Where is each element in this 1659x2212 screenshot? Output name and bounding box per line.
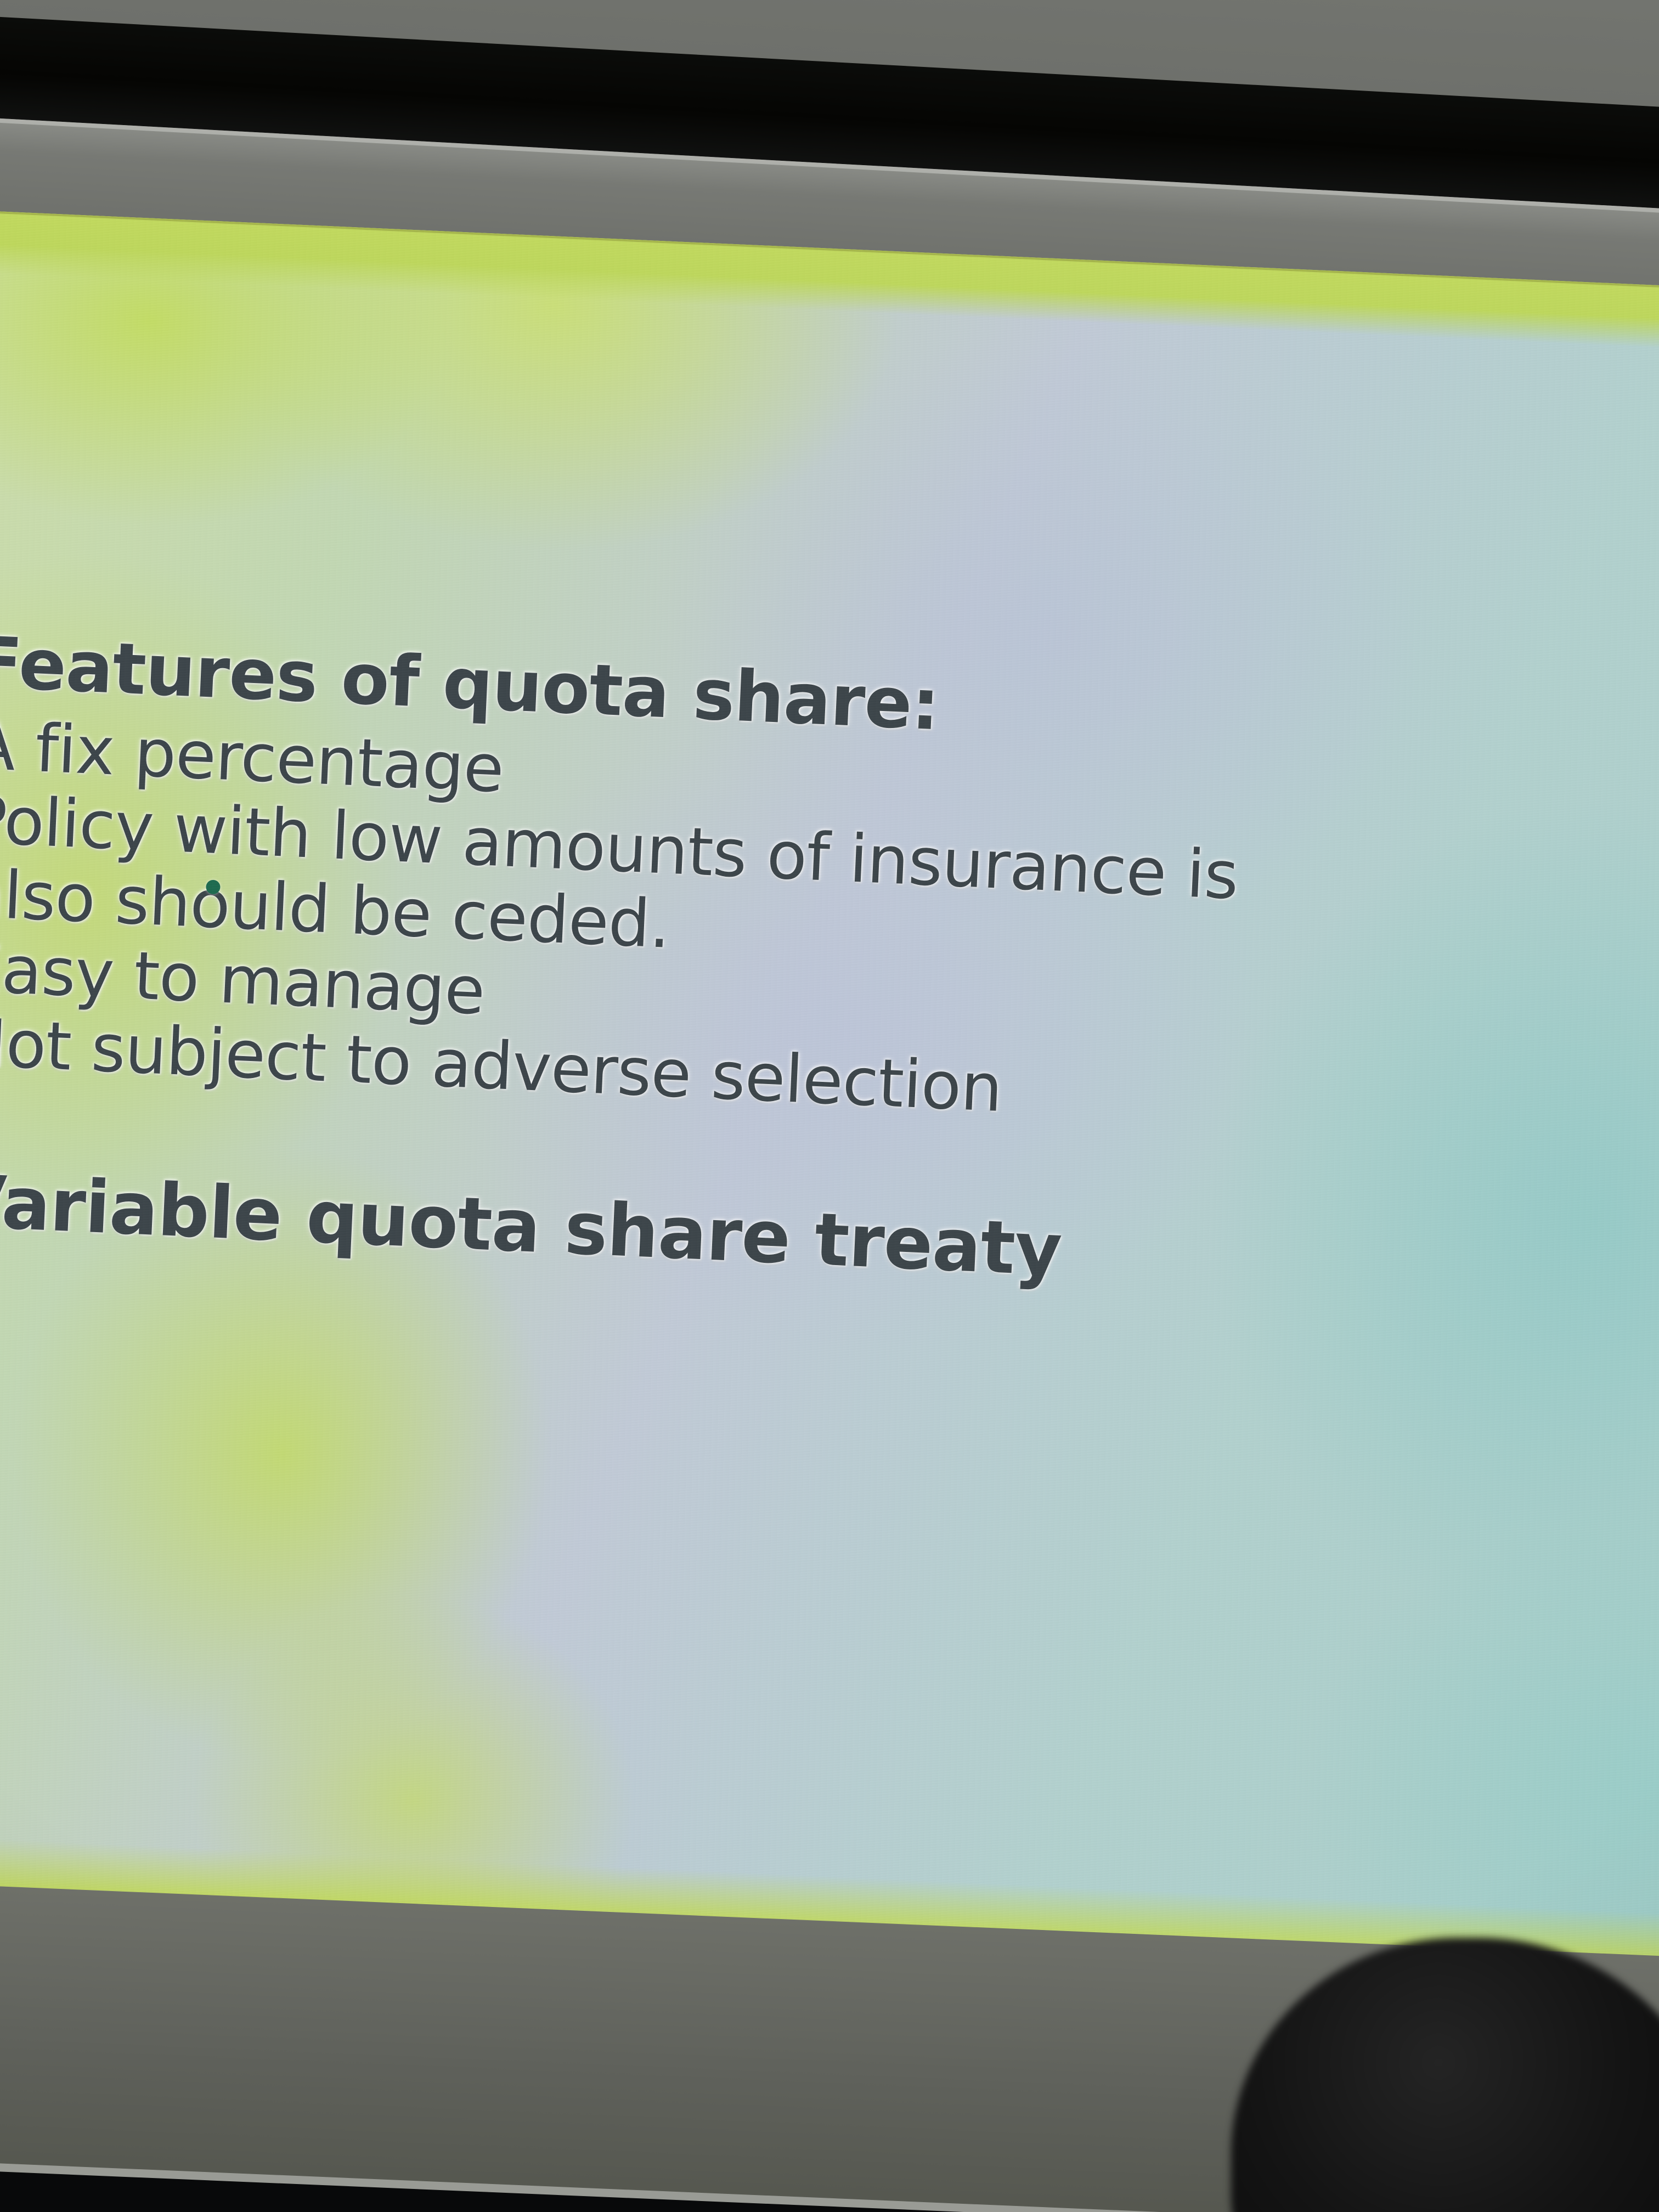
slide-content: Features of quota share: A fix percentag…: [0, 628, 1659, 1315]
projected-slide: Features of quota share: A fix percentag…: [0, 208, 1659, 1995]
projection-screen-photo: Features of quota share: A fix percentag…: [0, 0, 1659, 2212]
